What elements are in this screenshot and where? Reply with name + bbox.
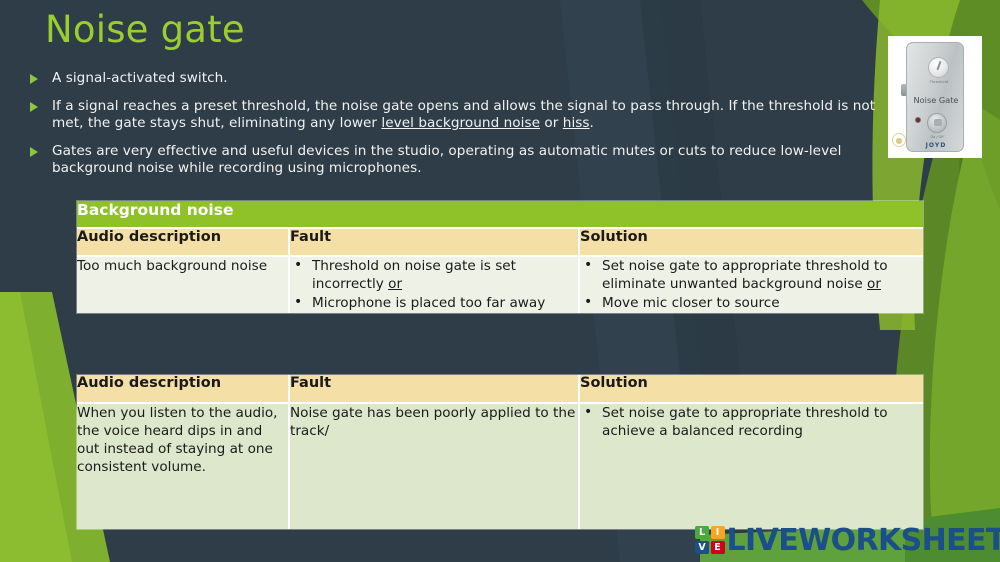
list-item: Move mic closer to source: [580, 294, 923, 312]
poorly-applied-gate-table: Audio description Fault Solution When yo…: [77, 375, 923, 529]
bullet-text-2: If a signal reaches a preset threshold, …: [52, 98, 880, 132]
table2-header-fault: Fault: [289, 375, 579, 403]
pedal-switch-label: On / Off: [921, 135, 953, 139]
table-row: When you listen to the audio, the voice …: [77, 403, 923, 529]
table1-header-audio-description: Audio description: [77, 228, 289, 256]
bullet-2-segment-2: or: [540, 115, 563, 131]
list-item: If a signal reaches a preset threshold, …: [30, 98, 880, 132]
bullet-2-segment-4: .: [590, 115, 594, 131]
triangle-bullet-icon: [30, 143, 52, 157]
pedal-body: Threshold Noise Gate On / Off JOYD: [906, 42, 964, 152]
table1-fault-0-or: or: [388, 276, 402, 292]
table2-fault-text: Noise gate has been poorly applied to th…: [290, 405, 575, 439]
table1-audio-text: Too much background noise: [77, 258, 267, 274]
table1-cell-audio-description: Too much background noise: [77, 256, 289, 313]
pedal-brand-label: JOYD: [913, 142, 959, 149]
table1-fault-0-text: Threshold on noise gate is set incorrect…: [312, 258, 516, 292]
background-noise-table: Background noise Audio description Fault…: [77, 201, 923, 313]
table1-solution-0-text: Set noise gate to appropriate threshold …: [602, 258, 888, 292]
pedal-footswitch-icon: [927, 113, 947, 133]
bullet-text-3: Gates are very effective and useful devi…: [52, 143, 880, 177]
list-item: Gates are very effective and useful devi…: [30, 143, 880, 177]
list-item: Threshold on noise gate is set incorrect…: [290, 257, 578, 293]
list-item: Microphone is placed too far away: [290, 294, 578, 312]
table2-cell-audio-description: When you listen to the audio, the voice …: [77, 403, 289, 529]
table2-cell-fault: Noise gate has been poorly applied to th…: [289, 403, 579, 529]
bullet-text-1: A signal-activated switch.: [52, 70, 228, 87]
table1-fault-list: Threshold on noise gate is set incorrect…: [290, 257, 578, 312]
logo-block-v: V: [695, 541, 709, 554]
liveworksheets-logo-blocks: L I V E: [695, 526, 725, 554]
liveworksheets-watermark: L I V E LIVEWORKSHEETS: [695, 522, 1000, 558]
table1-solution-1-text: Move mic closer to source: [602, 295, 780, 311]
table2-cell-solution: Set noise gate to appropriate threshold …: [579, 403, 923, 529]
bullet-list: A signal-activated switch. If a signal r…: [30, 70, 880, 188]
presentation-slide: Noise gate A signal-activated switch. If…: [0, 0, 1000, 562]
pedal-led-icon: [915, 117, 921, 123]
table1-fault-1-text: Microphone is placed too far away: [312, 295, 545, 311]
table1-header-solution: Solution: [579, 228, 923, 256]
pedal-name-label: Noise Gate: [913, 95, 959, 105]
table1-cell-fault: Threshold on noise gate is set incorrect…: [289, 256, 579, 313]
table2-solution-0-text: Set noise gate to appropriate threshold …: [602, 405, 888, 439]
pedal-watermark-icon: ●: [892, 133, 906, 147]
table-header-row: Audio description Fault Solution: [77, 228, 923, 256]
table-row: Too much background noise Threshold on n…: [77, 256, 923, 313]
logo-block-i: I: [711, 526, 725, 539]
table1-cell-solution: Set noise gate to appropriate threshold …: [579, 256, 923, 313]
table2-audio-text: When you listen to the audio, the voice …: [77, 405, 278, 475]
noise-gate-pedal-image: Threshold Noise Gate On / Off JOYD ●: [888, 36, 982, 158]
bullet-2-segment-3: hiss: [563, 115, 590, 131]
triangle-bullet-icon: [30, 98, 52, 112]
pedal-knob-label: Threshold: [923, 80, 955, 84]
list-item: Set noise gate to appropriate threshold …: [580, 257, 923, 293]
logo-block-l: L: [695, 526, 709, 539]
page-title: Noise gate: [45, 8, 245, 51]
bullet-1-segment-0: A signal-activated switch.: [52, 70, 228, 86]
table2-header-audio-description: Audio description: [77, 375, 289, 403]
table1-title: Background noise: [77, 201, 923, 228]
logo-block-e: E: [711, 541, 725, 554]
bullet-2-segment-1: level background noise: [381, 115, 540, 131]
table1-solution-0-or: or: [867, 276, 881, 292]
triangle-bullet-icon: [30, 70, 52, 84]
list-item: A signal-activated switch.: [30, 70, 880, 87]
table1-header-fault: Fault: [289, 228, 579, 256]
table2-header-solution: Solution: [579, 375, 923, 403]
table2-solution-list: Set noise gate to appropriate threshold …: [580, 404, 923, 440]
bullet-3-segment-0: Gates are very effective and useful devi…: [52, 143, 841, 176]
table-title-row: Background noise: [77, 201, 923, 228]
table-header-row: Audio description Fault Solution: [77, 375, 923, 403]
pedal-knob-icon: [928, 57, 949, 78]
table1-solution-list: Set noise gate to appropriate threshold …: [580, 257, 923, 312]
liveworksheets-wordmark: LIVEWORKSHEETS: [727, 523, 1000, 558]
list-item: Set noise gate to appropriate threshold …: [580, 404, 923, 440]
